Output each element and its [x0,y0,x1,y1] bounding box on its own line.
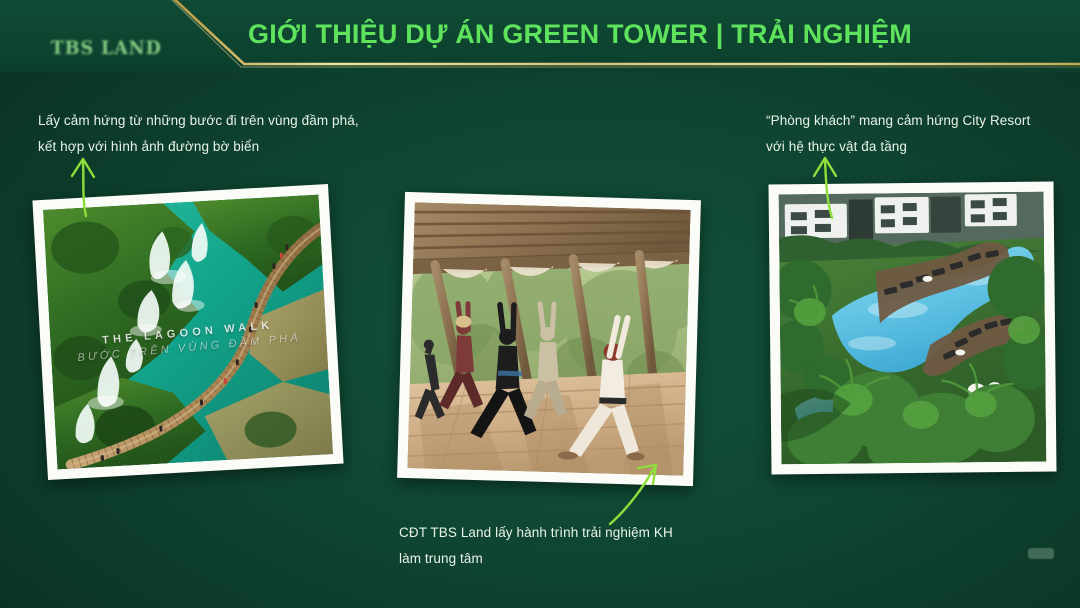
company-logo: TBS LAND [46,35,166,61]
slide-canvas: TBS LAND GIỚI THIỆU DỰ ÁN GREEN TOWER | … [0,0,1080,608]
caption-right-line-1: “Phòng khách” mang cảm hứng City Resort [766,108,1030,134]
arrow-to-lagoon-photo [56,148,116,218]
company-logo-text: TBS LAND [51,37,162,59]
arrow-to-yoga-photo [596,462,668,528]
caption-bottom-line-2: làm trung tâm [399,546,673,572]
photo-lagoon-walk[interactable]: THE LAGOON WALK BƯỚC TRÊN VÙNG ĐẦM PHÁ [32,184,343,480]
corner-watermark [1028,548,1054,559]
photo-pool-image [779,192,1047,465]
page-title: GIỚI THIỆU DỰ ÁN GREEN TOWER | TRẢI NGHI… [248,19,912,50]
arrow-to-pool-photo [798,148,858,220]
caption-left-line-1: Lấy cảm hứng từ những bước đi trên vùng … [38,108,359,134]
photo-yoga-image [407,202,690,476]
photo-yoga-pavilion[interactable] [397,192,701,486]
slide-header: TBS LAND GIỚI THIỆU DỰ ÁN GREEN TOWER | … [0,0,1080,76]
photo-lagoon-image: THE LAGOON WALK BƯỚC TRÊN VÙNG ĐẦM PHÁ [43,194,333,469]
photo-resort-pool[interactable] [768,182,1056,475]
